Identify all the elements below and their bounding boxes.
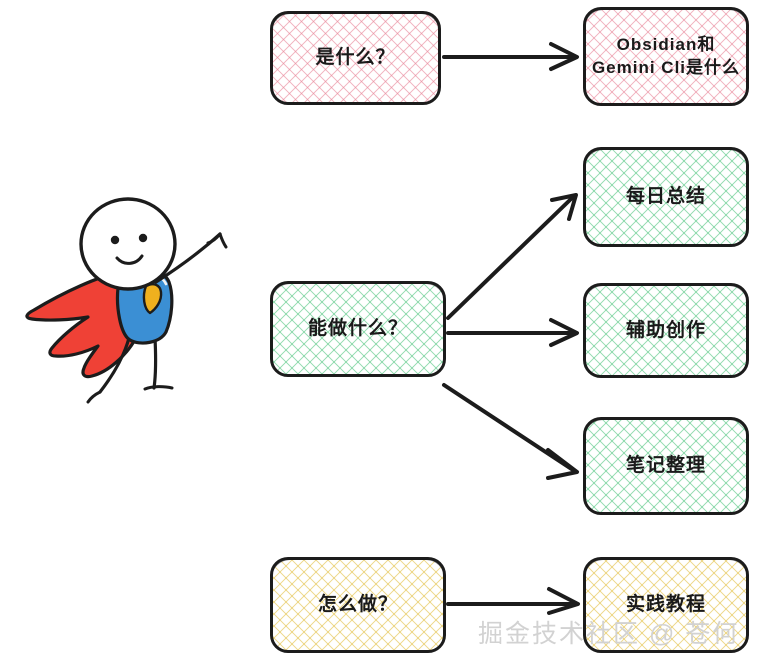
arrow-cando-to-writing (448, 320, 577, 345)
node-label: 辅助创作 (626, 318, 706, 344)
hero-foot-right (145, 387, 172, 389)
node-label: 怎么做？ (318, 592, 398, 618)
node-label-line2: Gemini Cli是什么 (592, 58, 740, 77)
node-daily-summary[interactable]: 每日总结 (583, 147, 749, 247)
hero-hand (208, 234, 226, 247)
node-note-organizing[interactable]: 笔记整理 (583, 417, 749, 515)
hero-eye-right (139, 234, 147, 242)
node-assisted-writing[interactable]: 辅助创作 (583, 283, 749, 378)
node-what-can-it-do[interactable]: 能做什么？ (270, 281, 446, 377)
diagram-canvas: 是什么？ Obsidian和 Gemini Cli是什么 能做什么？ 每日总结 … (0, 0, 759, 665)
hero-head (81, 199, 175, 289)
node-label: 笔记整理 (626, 453, 706, 479)
node-how-to-do[interactable]: 怎么做？ (270, 557, 446, 653)
hero-foot-left (88, 392, 100, 402)
node-label: 每日总结 (626, 184, 706, 210)
arrow-cando-to-notes (444, 385, 577, 478)
hero-leg-right (154, 338, 156, 388)
watermark-text: 掘金技术社区 @ 苍何 (478, 614, 739, 650)
node-label: 是什么？ (315, 45, 395, 71)
arrow-how-to-tutorial (448, 589, 578, 613)
arrow-cando-to-daily (448, 195, 576, 318)
arrow-what-to-whatis (444, 44, 577, 69)
node-what-is[interactable]: 是什么？ (270, 11, 441, 105)
hero-eye-left (111, 236, 119, 244)
superhero-stick-figure-illustration (4, 196, 254, 414)
node-label: Obsidian和 Gemini Cli是什么 (592, 34, 740, 80)
node-label-line1: Obsidian和 (617, 35, 716, 54)
node-obsidian-gemini-cli[interactable]: Obsidian和 Gemini Cli是什么 (583, 7, 749, 106)
node-label: 能做什么？ (308, 316, 408, 342)
